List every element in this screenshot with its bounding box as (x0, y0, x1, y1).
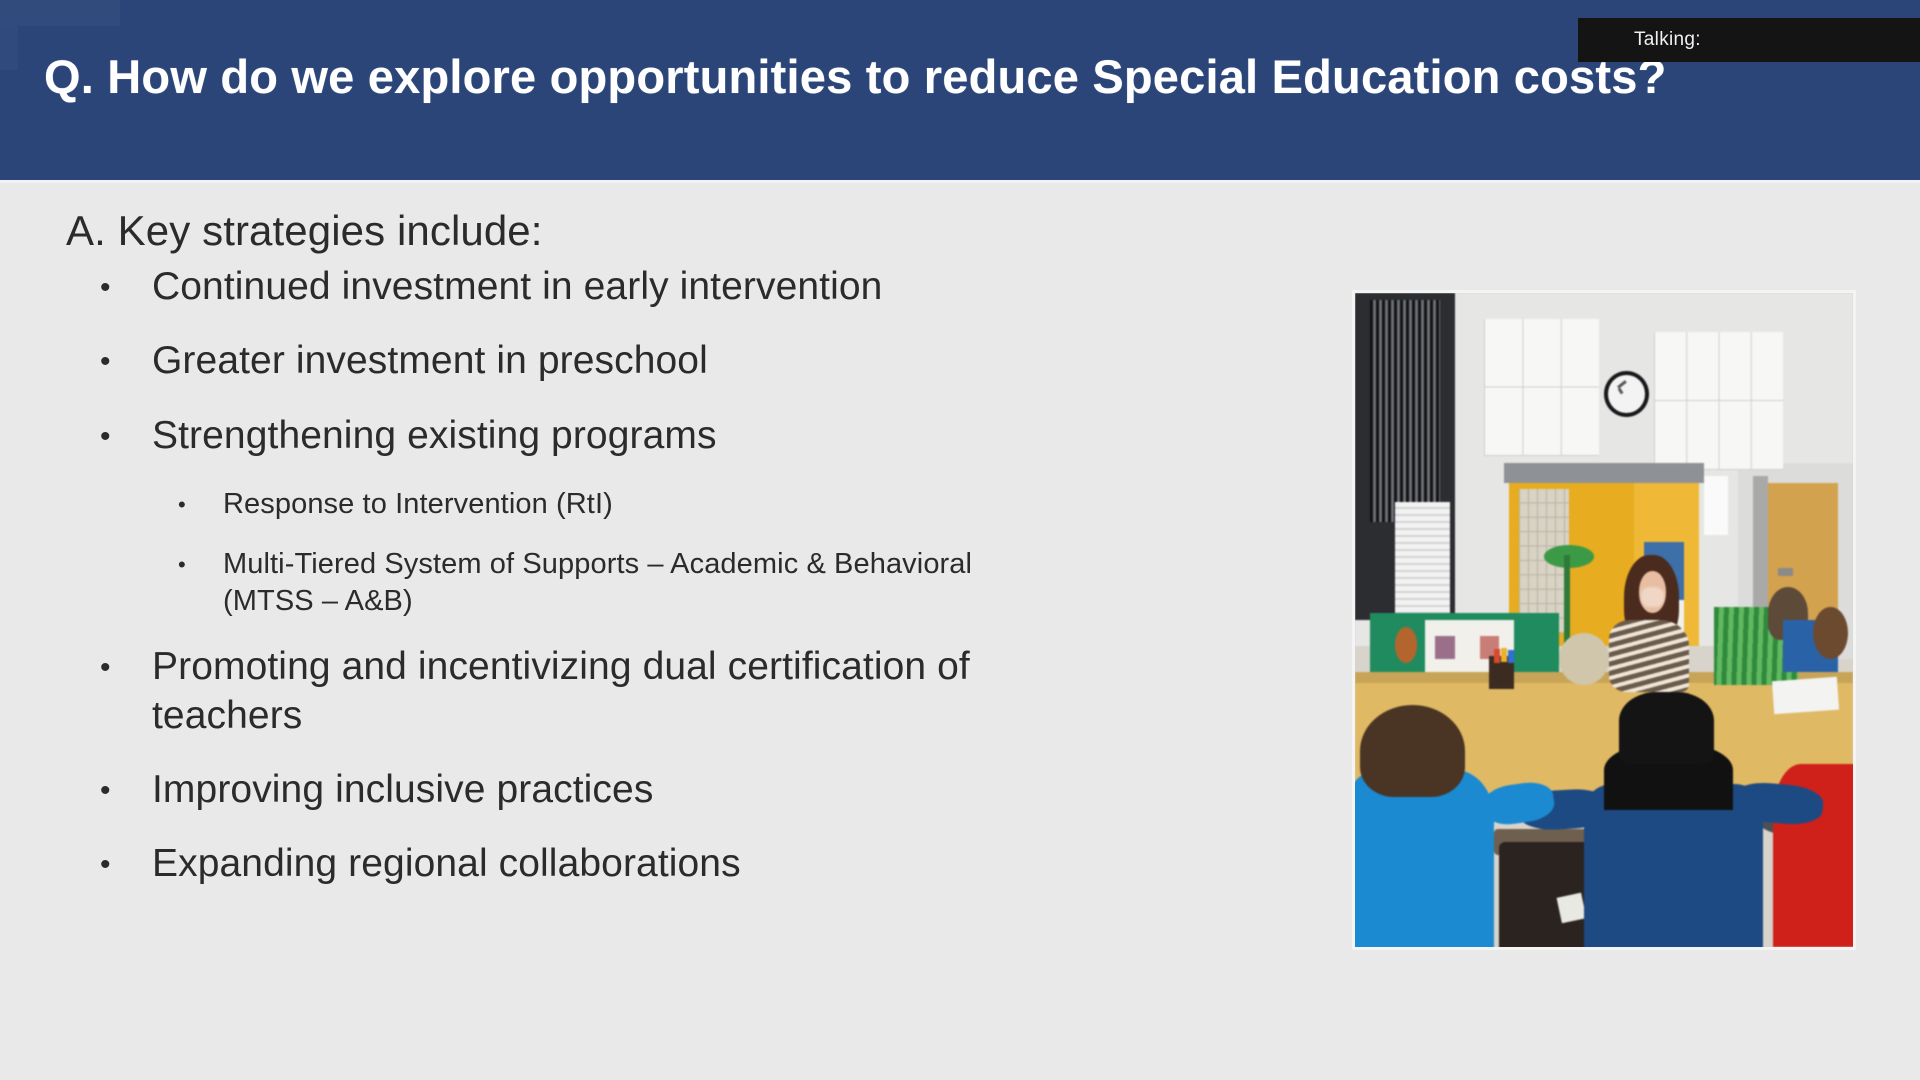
list-item-text: Promoting and incentivizing dual certifi… (152, 643, 1072, 740)
list-item-text: Improving inclusive practices (152, 766, 653, 814)
list-item-text: Continued investment in early interventi… (152, 263, 882, 311)
list-item-text: Greater investment in preschool (152, 337, 708, 385)
list-item: • Strengthening existing programs (0, 412, 1230, 460)
presentation-slide: Q. How do we explore opportunities to re… (0, 0, 1920, 1080)
list-item: • Continued investment in early interven… (0, 263, 1230, 311)
classroom-photo-rendering (1355, 293, 1853, 947)
bullet-marker-icon: • (100, 263, 152, 303)
bullet-marker-icon: • (178, 486, 223, 516)
strategy-bullet-list: • Continued investment in early interven… (0, 263, 1230, 915)
header-artifact-secondary (0, 26, 18, 70)
list-item: • Expanding regional collaborations (0, 840, 1230, 888)
sub-list-item-text: Response to Intervention (RtI) (223, 486, 613, 524)
bullet-marker-icon: • (100, 337, 152, 377)
classroom-photo (1352, 290, 1856, 950)
list-item-text: Strengthening existing programs (152, 412, 717, 460)
header-artifact (0, 0, 120, 26)
bullet-marker-icon: • (100, 840, 152, 880)
talking-label: Talking: (1634, 29, 1701, 51)
bullet-marker-icon: • (100, 766, 152, 806)
bullet-marker-icon: • (100, 643, 152, 683)
sub-list-item-text: Multi-Tiered System of Supports – Academ… (223, 546, 983, 621)
bullet-marker-icon: • (178, 546, 223, 576)
sub-list-item: • Multi-Tiered System of Supports – Acad… (0, 546, 1230, 621)
answer-lead-text: A. Key strategies include: (66, 207, 543, 255)
list-item: • Greater investment in preschool (0, 337, 1230, 385)
slide-title: Q. How do we explore opportunities to re… (44, 50, 1720, 104)
list-item: • Promoting and incentivizing dual certi… (0, 643, 1230, 740)
list-item-text: Expanding regional collaborations (152, 840, 741, 888)
list-item: • Improving inclusive practices (0, 766, 1230, 814)
bullet-marker-icon: • (100, 412, 152, 452)
talking-indicator-badge: Talking: (1578, 18, 1920, 62)
sub-list-item: • Response to Intervention (RtI) (0, 486, 1230, 524)
